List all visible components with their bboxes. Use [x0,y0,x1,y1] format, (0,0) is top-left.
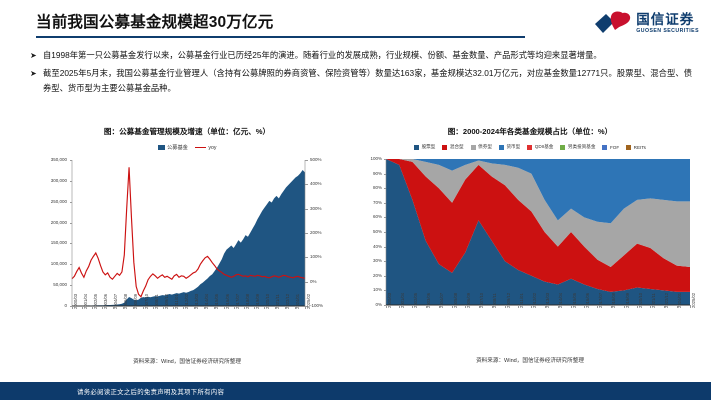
y-axis-tick-label: 300,000 [22,179,67,184]
y-axis-tick-label: 60% [360,215,382,220]
chart-panel-fund-type-share: 图：2000-2024年各类基金规模占比（单位：%） 股票型混合型债券型货币型Q… [360,126,700,376]
x-axis-tick-label: 2000/03 [74,294,78,309]
bullet-item: ➤ 自1998年第一只公募基金发行以来，公募基金行业已历经25年的演进。随着行业… [30,48,692,64]
x-axis-tick-mark [244,306,245,309]
x-axis-tick-label: 2016/06 [226,294,230,309]
y-axis-tick-mark [70,264,73,265]
y-axis-tick-mark [384,217,387,218]
x-axis-tick-mark [584,305,585,308]
slide-header: 当前我国公募基金规模超30万亿元 国信证券 GUOSEN SECURITIES [0,0,711,45]
y-axis-tick-mark [384,174,387,175]
secondary-y-axis-tick-label: -100% [310,304,323,309]
x-axis-tick-label: 2021/11 [652,293,656,308]
x-axis-tick-label: 2025/02 [692,293,696,308]
y-axis-tick-mark [384,261,387,262]
x-axis-tick-mark [650,305,651,308]
x-axis-tick-mark [531,305,532,308]
secondary-y-axis-tick-mark [305,257,308,258]
y-axis-tick-mark [384,159,387,160]
legend-entry: 货币型 [499,144,520,150]
x-axis-tick-label: 2018/08 [612,293,616,308]
y-axis-tick-label: 90% [360,171,382,176]
x-axis-tick-mark [597,305,598,308]
x-axis-tick-mark [163,306,164,309]
secondary-y-axis-tick-label: 0% [310,279,317,284]
y-axis-tick-label: 50,000 [22,283,67,288]
secondary-y-axis-tick-label: 200% [310,231,322,236]
x-axis-tick-mark [637,305,638,308]
y-axis-tick-mark [384,247,387,248]
x-axis-tick-mark [664,305,665,308]
x-axis-tick-mark [72,306,73,309]
brand-text: 国信证券 GUOSEN SECURITIES [636,13,699,34]
x-axis-tick-label: 2000/03 [388,293,392,308]
x-axis-tick-mark [452,305,453,308]
legend-swatch-icon [527,145,532,150]
y-axis-tick-mark [70,285,73,286]
legend-entry: 混合型 [442,144,463,150]
x-axis-tick-mark [492,305,493,308]
x-axis-tick-label: 2020/10 [266,294,270,309]
y-axis-tick-label: 20% [360,274,382,279]
x-axis-tick-mark [224,306,225,309]
secondary-y-axis-tick-label: 100% [310,255,322,260]
x-axis-tick-label: 2011/01 [175,294,179,309]
y-axis-tick-label: 200,000 [22,220,67,225]
y-axis-tick-label: 50% [360,230,382,235]
x-axis-tick-label: 2006/09 [467,293,471,308]
legend-label: 另类投资基金 [568,144,596,150]
x-axis-tick-mark [399,305,400,308]
bullet-text: 自1998年第一只公募基金发行以来，公募基金行业已历经25年的演进。随着行业的发… [43,48,692,64]
x-axis-tick-label: 2017/07 [236,294,240,309]
chart-caption: 图：2000-2024年各类基金规模占比（单位：%） [360,126,700,137]
bullet-text: 截至2025年5月末，我国公募基金行业管理人（含持有公募牌照的券商资管、保险资管… [43,66,692,97]
y-axis-tick-label: 10% [360,288,382,293]
secondary-y-axis-tick-mark [305,233,308,234]
y-axis-tick-label: 70% [360,201,382,206]
brand-name-en: GUOSEN SECURITIES [636,29,699,34]
y-axis-tick-label: 350,000 [22,158,67,163]
x-axis-tick-mark [412,305,413,308]
legend-entry: yoy [195,145,217,151]
x-axis-tick-mark [194,306,195,309]
legend-swatch-icon [499,145,504,150]
legend-label: 债券型 [478,144,492,150]
legend-label: yoy [208,145,216,151]
y-axis-tick-mark [70,160,73,161]
slide-footer: 请务必阅读正文之后的免责声明及其项下所有内容 [0,382,711,400]
x-axis-tick-mark [611,305,612,308]
legend-entry: 公募基金 [158,144,188,151]
x-axis-tick-label: 2022/12 [286,294,290,309]
y-axis-tick-mark [384,188,387,189]
x-axis-tick-label: 2012/02 [533,293,537,308]
y-axis-tick-label: 0% [360,303,382,308]
brand-name-cn: 国信证券 [636,13,694,27]
x-axis-tick-label: 2019/09 [256,294,260,309]
legend-label: 公募基金 [167,144,188,151]
x-axis-tick-mark [624,305,625,308]
legend-swatch-icon [414,145,419,150]
x-axis-tick-label: 2009/12 [165,294,169,309]
legend-swatch-icon [442,145,447,150]
x-axis-tick-mark [214,306,215,309]
secondary-y-axis-tick-mark [305,184,308,185]
secondary-y-axis-tick-mark [305,160,308,161]
x-axis-tick-mark [82,306,83,309]
x-axis-tick-label: 2014/04 [559,293,563,308]
x-axis-tick-label: 2005/08 [124,294,128,309]
x-axis-tick-mark [690,305,691,308]
chart-panel-fund-scale-growth: 图：公募基金管理规模及增速（单位：亿元、%） 公募基金yoy 050,00010… [22,126,352,376]
x-axis-tick-label: 2022/12 [665,293,669,308]
bullet-item: ➤ 截至2025年5月末，我国公募基金行业管理人（含持有公募牌照的券商资管、保险… [30,66,692,97]
y-axis-tick-mark [384,232,387,233]
x-axis-tick-mark [518,305,519,308]
legend-swatch-icon [560,145,565,150]
legend-entry: 另类投资基金 [560,144,595,150]
legend-entry: QDII基金 [527,144,553,150]
legend-swatch-icon [158,145,165,150]
legend-label: REITs [634,145,646,150]
legend-entry: REITs [626,145,646,150]
x-axis-tick-mark [285,306,286,309]
x-axis-tick-mark [234,306,235,309]
x-axis-tick-mark [254,306,255,309]
chart-legend: 公募基金yoy [22,144,352,151]
y-axis-tick-label: 30% [360,259,382,264]
secondary-y-axis-tick-mark [305,282,308,283]
x-axis-tick-mark [571,305,572,308]
x-axis-tick-label: 2011/01 [520,293,524,308]
chart-legend: 股票型混合型债券型货币型QDII基金另类投资基金FOFREITs [360,144,700,150]
x-axis-tick-label: 2020/10 [639,293,643,308]
y-axis-tick-label: 100,000 [22,262,67,267]
legend-label: 货币型 [506,144,520,150]
x-axis-tick-mark [113,306,114,309]
x-axis-tick-mark [173,306,174,309]
x-axis-tick-label: 2002/05 [414,293,418,308]
x-axis-tick-label: 2015/05 [573,293,577,308]
y-axis-tick-label: 150,000 [22,241,67,246]
x-axis-tick-label: 2017/07 [599,293,603,308]
x-axis-tick-label: 2014/04 [205,294,209,309]
x-axis-tick-label: 2021/11 [276,294,280,309]
y-axis-tick-mark [384,203,387,204]
x-axis-tick-mark [92,306,93,309]
footer-disclaimer-text: 请务必阅读正文之后的免责声明及其项下所有内容 [77,387,224,396]
legend-label: QDII基金 [535,144,554,150]
y-axis-tick-mark [70,202,73,203]
x-axis-tick-label: 2012/02 [185,294,189,309]
secondary-y-axis-tick-label: 500% [310,158,322,163]
y-axis-tick-label: 0 [22,304,67,309]
x-axis-tick-mark [439,305,440,308]
x-axis-tick-label: 2015/05 [215,294,219,309]
x-axis-tick-mark [264,306,265,309]
legend-label: 股票型 [422,144,436,150]
legend-swatch-icon [471,145,476,150]
x-axis-tick-mark [426,305,427,308]
x-axis-tick-label: 2018/08 [246,294,250,309]
x-axis-tick-mark [305,306,306,309]
y-axis-tick-mark [70,223,73,224]
x-axis-tick-mark [133,306,134,309]
y-axis-tick-label: 40% [360,244,382,249]
x-axis-tick-label: 2006/09 [134,294,138,309]
chart-plot-area: 050,000100,000150,000200,000250,000300,0… [22,154,352,354]
x-axis-tick-mark [295,306,296,309]
x-axis-tick-label: 2007/10 [480,293,484,308]
x-axis-tick-label: 2019/09 [626,293,630,308]
x-axis-tick-label: 2016/06 [586,293,590,308]
x-axis-tick-mark [143,306,144,309]
x-axis-tick-mark [677,305,678,308]
x-axis-tick-label: 2004/07 [114,294,118,309]
chart-source-note: 资料来源：Wind，国信证券经济研究所整理 [22,357,352,365]
x-axis-tick-mark [183,306,184,309]
x-axis-tick-mark [558,305,559,308]
x-axis-tick-label: 2002/05 [94,294,98,309]
x-axis-tick-label: 2013/03 [546,293,550,308]
page-title: 当前我国公募基金规模超30万亿元 [36,10,273,32]
x-axis-tick-mark [465,305,466,308]
x-axis-tick-mark [102,306,103,309]
x-axis-tick-label: 2025/02 [307,294,311,309]
chart-caption: 图：公募基金管理规模及增速（单位：亿元、%） [22,126,352,137]
x-axis-tick-mark [386,305,387,308]
bullet-list: ➤ 自1998年第一只公募基金发行以来，公募基金行业已历经25年的演进。随着行业… [30,48,692,99]
secondary-y-axis-tick-mark [305,209,308,210]
y-axis-tick-mark [384,276,387,277]
legend-swatch-icon [602,145,607,150]
legend-label: 混合型 [450,144,464,150]
legend-line-icon [195,147,206,149]
x-axis-tick-label: 2004/07 [440,293,444,308]
guosen-logo-icon [593,11,631,37]
bullet-arrow-icon: ➤ [30,66,43,81]
x-axis-tick-label: 2003/06 [104,294,108,309]
y-axis-tick-mark [70,243,73,244]
x-axis-tick-label: 2001/04 [84,294,88,309]
y-axis-tick-mark [384,290,387,291]
x-axis-tick-mark [123,306,124,309]
x-axis-tick-label: 2009/12 [507,293,511,308]
x-axis-tick-label: 2008/11 [493,293,497,308]
legend-entry: 股票型 [414,144,435,150]
legend-entry: 债券型 [471,144,492,150]
chart-plot-area: 0%10%20%30%40%50%60%70%80%90%100%2000/03… [360,153,700,353]
x-axis-tick-mark [275,306,276,309]
x-axis-tick-label: 2024/01 [296,294,300,309]
title-underline-rule [36,36,525,38]
x-axis-tick-mark [479,305,480,308]
y-axis-tick-label: 80% [360,186,382,191]
x-axis-tick-label: 2005/08 [454,293,458,308]
x-axis-tick-label: 2008/11 [155,294,159,309]
y-axis-tick-mark [70,181,73,182]
legend-swatch-icon [626,145,631,150]
legend-entry: FOF [602,145,619,150]
brand-logo: 国信证券 GUOSEN SECURITIES [593,10,699,38]
x-axis-tick-label: 2007/10 [145,294,149,309]
x-axis-tick-mark [545,305,546,308]
x-axis-tick-label: 2024/01 [678,293,682,308]
x-axis-tick-label: 2003/06 [427,293,431,308]
secondary-y-axis-tick-label: 400% [310,182,322,187]
x-axis-tick-mark [204,306,205,309]
x-axis-tick-label: 2001/04 [401,293,405,308]
bullet-arrow-icon: ➤ [30,48,43,63]
x-axis-tick-mark [153,306,154,309]
secondary-y-axis-tick-label: 300% [310,206,322,211]
legend-label: FOF [610,145,619,150]
x-axis-tick-mark [505,305,506,308]
x-axis-tick-label: 2013/03 [195,294,199,309]
y-axis-tick-label: 250,000 [22,199,67,204]
y-axis-tick-label: 100% [360,157,382,162]
chart-source-note: 资料来源：Wind，国信证券经济研究所整理 [360,356,700,364]
